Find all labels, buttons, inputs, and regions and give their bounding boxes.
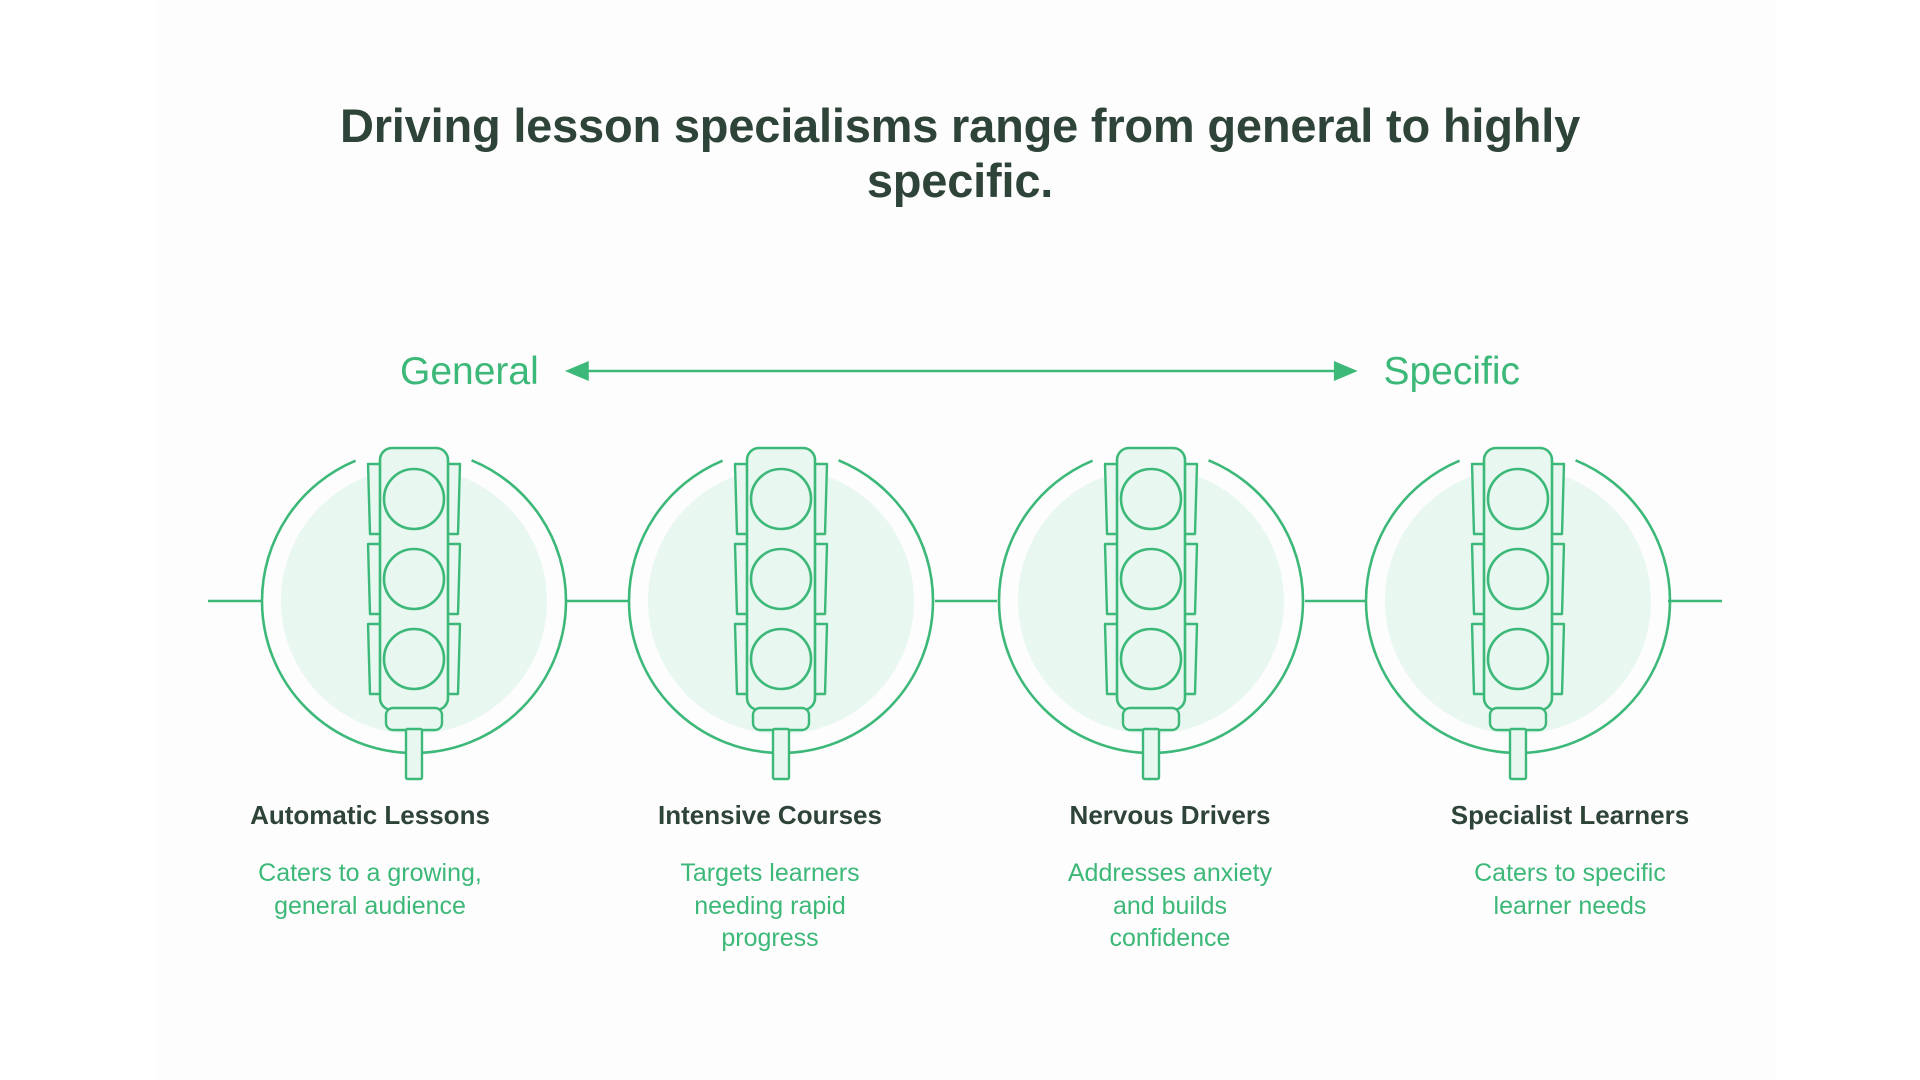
node-title-1: Automatic Lessons [188, 800, 552, 831]
node-description-line: and builds [988, 890, 1352, 923]
node-description-line: Caters to a growing, [188, 857, 552, 890]
caption-col-1: Automatic Lessons Caters to a growing, g… [170, 800, 570, 1000]
node-description-1: Caters to a growing, general audience [188, 857, 552, 922]
node-description-line: confidence [988, 922, 1352, 955]
captions-row: Automatic Lessons Caters to a growing, g… [170, 800, 1770, 1000]
node-3[interactable] [999, 448, 1303, 779]
caption-col-2: Intensive Courses Targets learners needi… [570, 800, 970, 1000]
node-description-2: Targets learners needing rapid progress [588, 857, 952, 955]
node-2[interactable] [629, 448, 933, 779]
double-arrow-icon [565, 351, 1358, 391]
node-title-2: Intensive Courses [588, 800, 952, 831]
node-description-line: general audience [188, 890, 552, 923]
title-block: Driving lesson specialisms range from ge… [260, 98, 1660, 209]
node-1[interactable] [262, 448, 566, 779]
node-title-3: Nervous Drivers [988, 800, 1352, 831]
node-description-line: Caters to specific [1388, 857, 1752, 890]
node-title-4: Specialist Learners [1388, 800, 1752, 831]
spectrum-axis: General Specific [400, 340, 1520, 402]
page-title: Driving lesson specialisms range from ge… [260, 98, 1660, 209]
node-description-line: progress [588, 922, 952, 955]
node-description-3: Addresses anxiety and builds confidence [988, 857, 1352, 955]
nodes-row [0, 415, 1920, 805]
axis-label-general: General [400, 352, 539, 391]
caption-col-3: Nervous Drivers Addresses anxiety and bu… [970, 800, 1370, 1000]
node-description-line: learner needs [1388, 890, 1752, 923]
caption-col-4: Specialist Learners Caters to specific l… [1370, 800, 1770, 1000]
node-description-line: Addresses anxiety [988, 857, 1352, 890]
axis-label-specific: Specific [1383, 352, 1520, 391]
node-description-4: Caters to specific learner needs [1388, 857, 1752, 922]
infographic-canvas: Driving lesson specialisms range from ge… [0, 0, 1920, 1080]
node-description-line: Targets learners [588, 857, 952, 890]
node-description-line: needing rapid [588, 890, 952, 923]
node-4[interactable] [1366, 448, 1670, 779]
